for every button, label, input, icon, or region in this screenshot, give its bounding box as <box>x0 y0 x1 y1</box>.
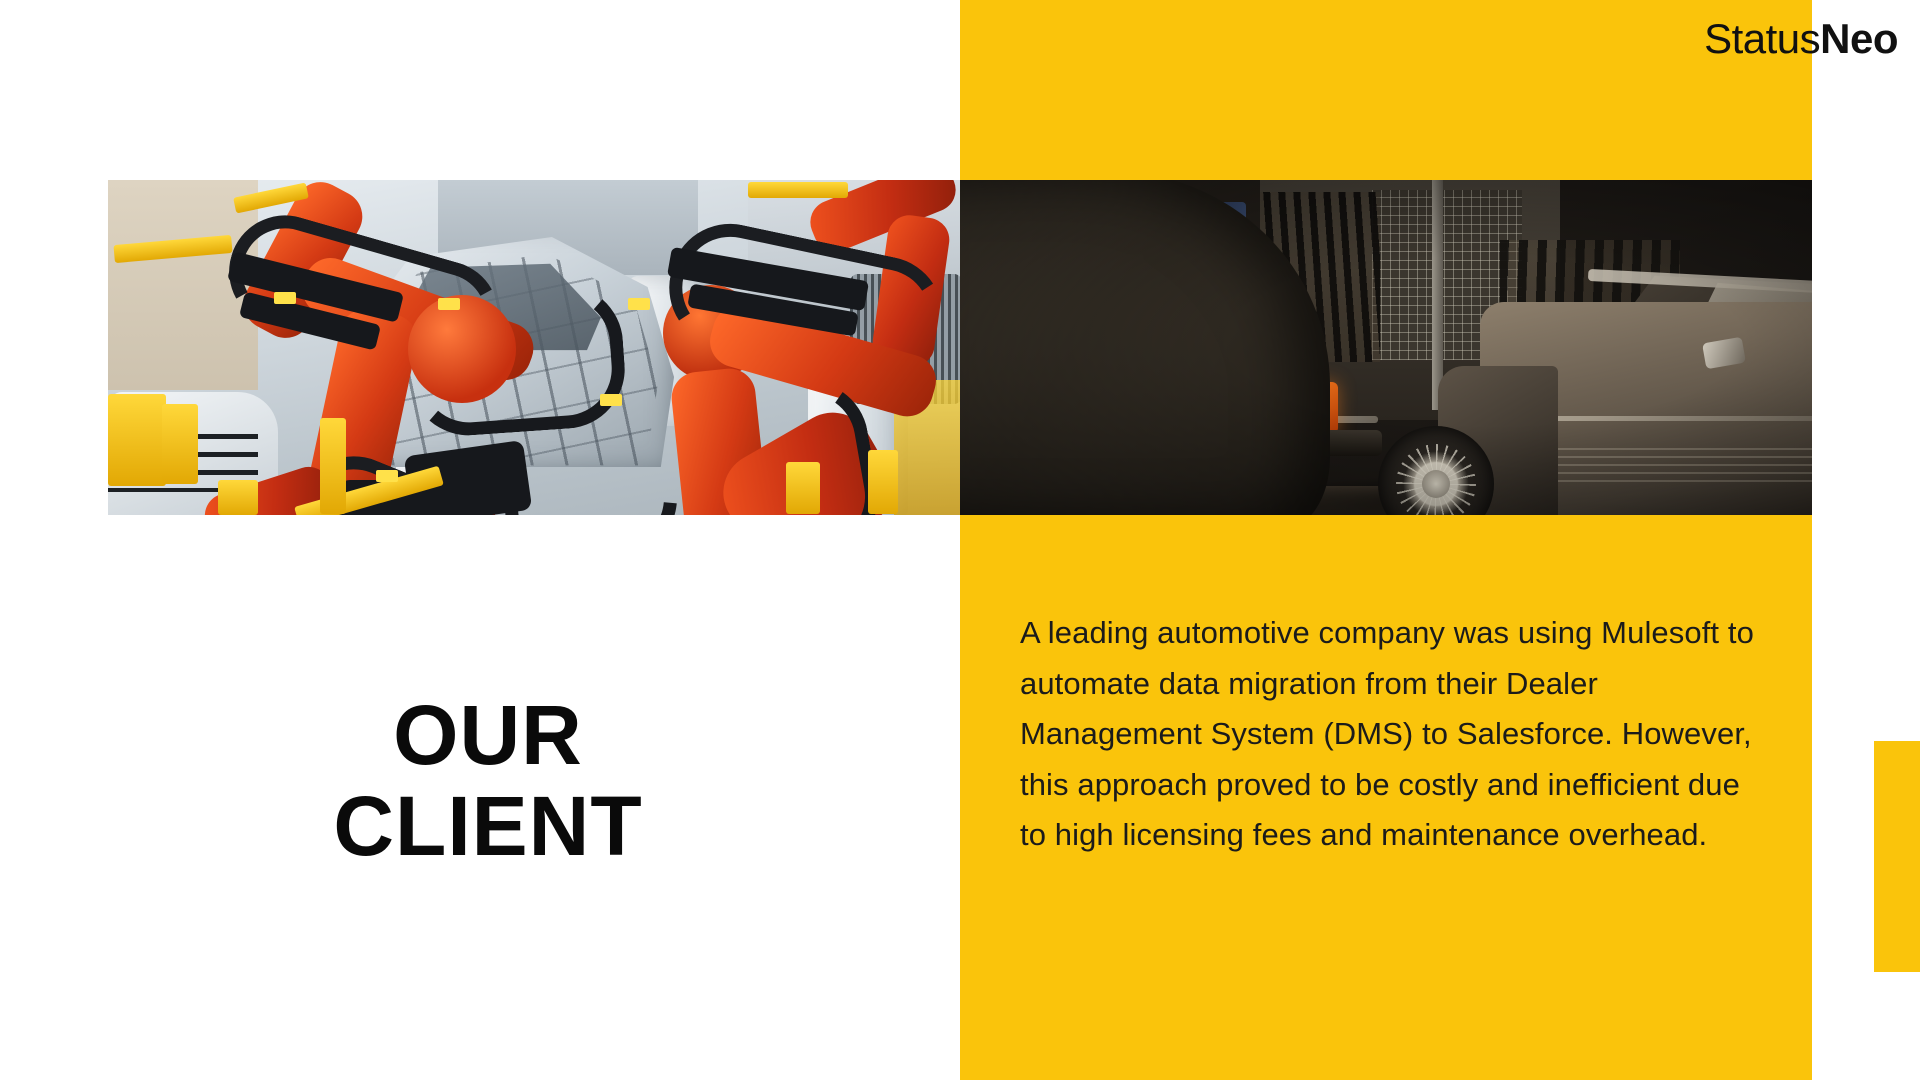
page-title: OUR CLIENT <box>108 690 868 871</box>
page-title-line-2: CLIENT <box>108 781 868 872</box>
yellow-background-panel <box>960 0 1812 1080</box>
workshop-scene <box>960 180 1812 515</box>
automotive-assembly-line-photo <box>108 180 960 515</box>
statusneo-logo: StatusNeo <box>1704 18 1898 60</box>
image-strip <box>108 180 1812 515</box>
slide-canvas: StatusNeo <box>0 0 1920 1080</box>
page-title-line-1: OUR <box>108 690 868 781</box>
logo-text-status: Status <box>1704 15 1820 62</box>
classic-car-workshop-photo <box>960 180 1812 515</box>
yellow-accent-bar <box>1874 741 1920 972</box>
client-description-text: A leading automotive company was using M… <box>1020 608 1760 861</box>
factory-scene <box>108 180 960 515</box>
logo-text-neo: Neo <box>1820 15 1898 62</box>
